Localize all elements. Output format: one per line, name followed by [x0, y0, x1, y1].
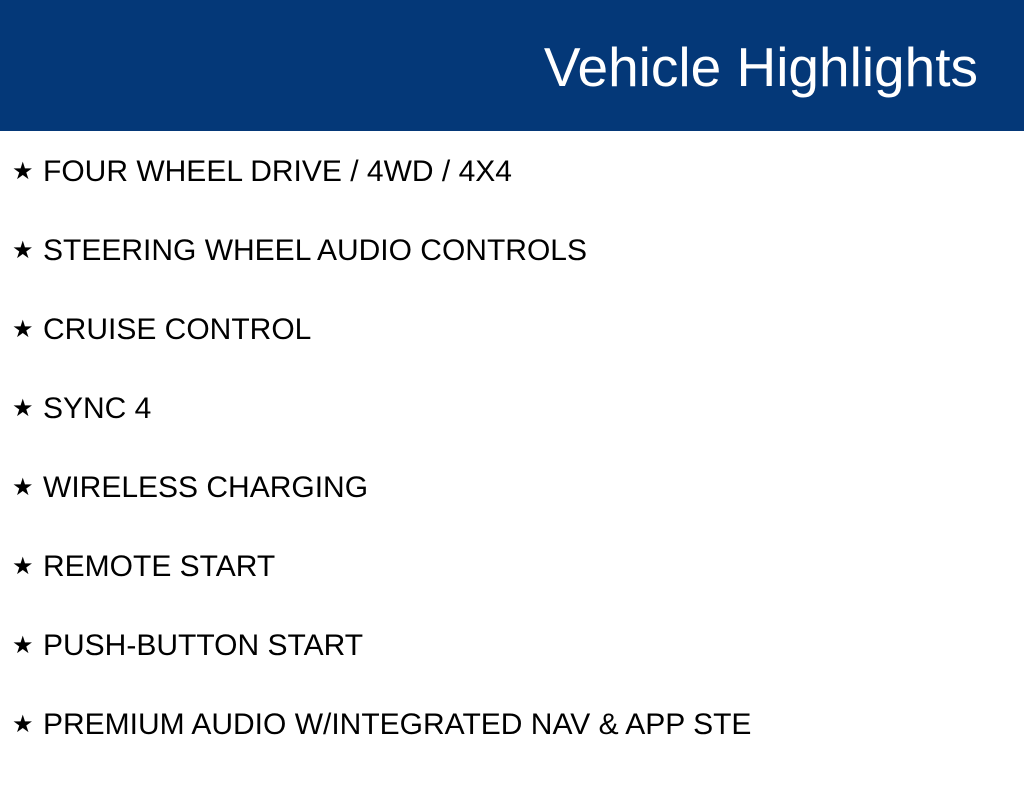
highlight-label: PUSH-BUTTON START — [43, 631, 363, 661]
star-icon: ★ — [12, 238, 43, 262]
star-icon: ★ — [12, 396, 43, 420]
list-item: ★ FOUR WHEEL DRIVE / 4WD / 4X4 — [0, 131, 1024, 236]
header-banner: Vehicle Highlights — [0, 0, 1024, 131]
list-item: ★ PUSH-BUTTON START — [0, 631, 1024, 710]
star-icon: ★ — [12, 633, 43, 657]
star-icon: ★ — [12, 554, 43, 578]
list-item: ★ PREMIUM AUDIO W/INTEGRATED NAV & APP S… — [0, 710, 1024, 789]
highlight-label: WIRELESS CHARGING — [43, 473, 368, 503]
highlight-label: SYNC 4 — [43, 394, 151, 424]
vehicle-highlights-slide: Vehicle Highlights ★ FOUR WHEEL DRIVE / … — [0, 0, 1024, 768]
page-title: Vehicle Highlights — [544, 40, 978, 95]
star-icon: ★ — [12, 159, 43, 183]
list-item: ★ WIRELESS CHARGING — [0, 473, 1024, 552]
list-item: ★ CRUISE CONTROL — [0, 315, 1024, 394]
star-icon: ★ — [12, 475, 43, 499]
vehicle-highlights-list: ★ FOUR WHEEL DRIVE / 4WD / 4X4 ★ STEERIN… — [0, 131, 1024, 789]
star-icon: ★ — [12, 712, 43, 736]
list-item: ★ REMOTE START — [0, 552, 1024, 631]
highlight-label: FOUR WHEEL DRIVE / 4WD / 4X4 — [43, 157, 512, 187]
highlight-label: REMOTE START — [43, 552, 275, 582]
list-item: ★ SYNC 4 — [0, 394, 1024, 473]
star-icon: ★ — [12, 317, 43, 341]
list-item: ★ STEERING WHEEL AUDIO CONTROLS — [0, 236, 1024, 315]
highlight-label: PREMIUM AUDIO W/INTEGRATED NAV & APP STE — [43, 710, 751, 740]
highlight-label: STEERING WHEEL AUDIO CONTROLS — [43, 236, 587, 266]
highlight-label: CRUISE CONTROL — [43, 315, 311, 345]
